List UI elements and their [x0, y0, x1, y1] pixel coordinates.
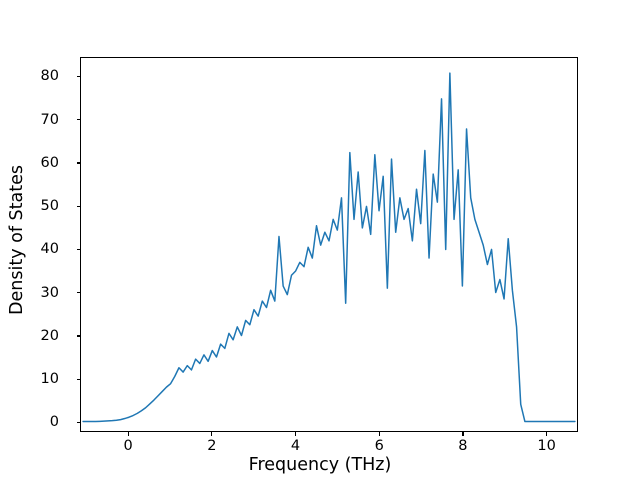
y-tick-mark: [77, 119, 81, 120]
x-axis-label: Frequency (THz): [0, 455, 640, 475]
plot-axes: [80, 57, 578, 432]
y-tick-mark: [77, 206, 81, 207]
y-tick-mark: [77, 379, 81, 380]
x-tick-mark: [211, 432, 212, 436]
x-tick-label: 4: [266, 439, 326, 454]
x-tick-label: 2: [182, 439, 242, 454]
y-tick-mark: [77, 76, 81, 77]
y-tick-label: 30: [41, 286, 59, 301]
y-tick-label: 10: [41, 372, 59, 387]
y-tick-mark: [77, 292, 81, 293]
x-tick-label: 10: [517, 439, 577, 454]
x-tick-label: 8: [433, 439, 493, 454]
y-tick-mark: [77, 422, 81, 423]
x-tick-mark: [379, 432, 380, 436]
y-tick-label: 80: [41, 69, 59, 84]
y-tick-label: 50: [41, 199, 59, 214]
matplotlib-figure: Density of States 01020304050607080 0246…: [0, 0, 640, 480]
y-tick-label: 40: [41, 242, 59, 257]
y-tick-mark: [77, 162, 81, 163]
x-tick-mark: [546, 432, 547, 436]
y-tick-mark: [77, 335, 81, 336]
x-tick-mark: [295, 432, 296, 436]
y-tick-label: 0: [50, 415, 59, 430]
y-axis-tick-labels: 01020304050607080: [0, 0, 72, 480]
y-tick-label: 60: [41, 156, 59, 171]
x-tick-mark: [128, 432, 129, 436]
x-tick-label: 0: [98, 439, 158, 454]
y-tick-mark: [77, 249, 81, 250]
dos-line-plot: [81, 58, 577, 431]
y-tick-label: 70: [41, 113, 59, 128]
x-tick-label: 6: [349, 439, 409, 454]
dos-curve: [83, 73, 575, 421]
x-tick-mark: [462, 432, 463, 436]
y-tick-label: 20: [41, 329, 59, 344]
